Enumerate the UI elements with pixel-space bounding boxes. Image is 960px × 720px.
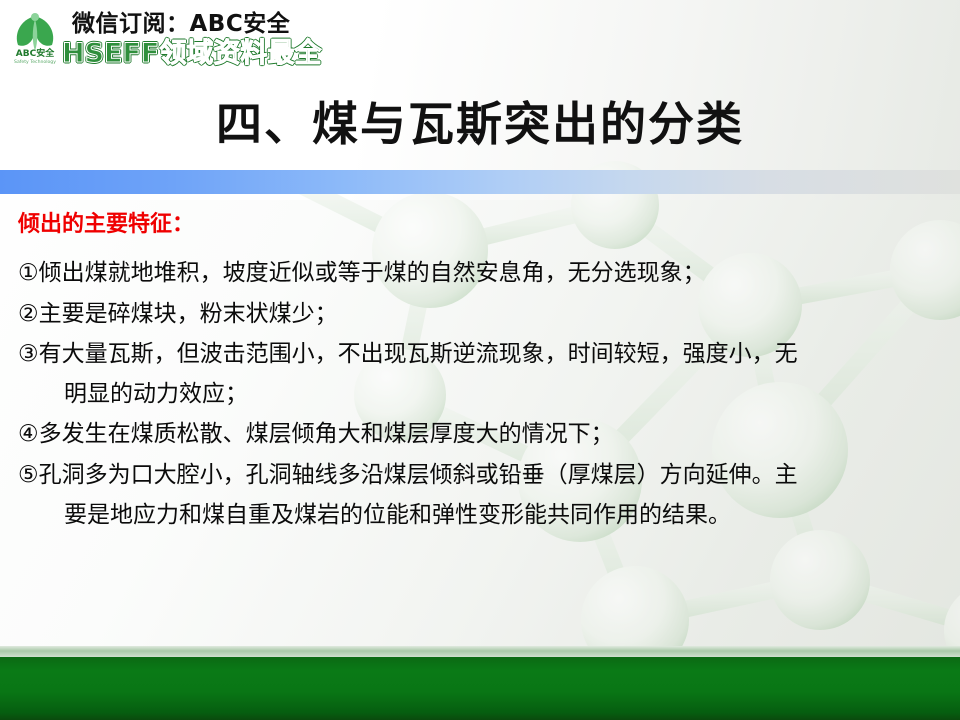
watermark-hseff-text: HSEFF领域资料最全: [62, 31, 321, 70]
watermark-header: ABC安全 Safety Technology 微信订阅：ABC安全 HSEFF…: [0, 0, 960, 72]
body-item-5-continuation: 要是地应力和煤自重及煤岩的位能和弹性变形能共同作用的结果。: [18, 500, 948, 531]
body-item-3-continuation: 明显的动力效应；: [18, 379, 948, 410]
slide-canvas: ABC安全 Safety Technology 微信订阅：ABC安全 HSEFF…: [0, 0, 960, 720]
slide-title: 四、煤与瓦斯突出的分类: [0, 88, 960, 154]
logo-main-text: ABC安全: [16, 47, 55, 59]
footer-green-band: [0, 657, 960, 720]
logo-sub-text: Safety Technology: [14, 59, 56, 65]
body-lead-heading: 倾出的主要特征：: [18, 212, 948, 238]
body-item-2: ②主要是碎煤块，粉末状煤少；: [18, 299, 948, 330]
abc-safety-leaf-logo-icon: ABC安全 Safety Technology: [4, 4, 66, 66]
footer-light-green-band: [0, 646, 960, 657]
body-item-1: ①倾出煤就地堆积，坡度近似或等于煤的自然安息角，无分选现象；: [18, 258, 948, 289]
slide-body: 倾出的主要特征： ①倾出煤就地堆积，坡度近似或等于煤的自然安息角，无分选现象； …: [18, 212, 948, 540]
body-item-4: ④多发生在煤质松散、煤层倾角大和煤层厚度大的情况下；: [18, 419, 948, 450]
body-item-5: ⑤孔洞多为口大腔小，孔洞轴线多沿煤层倾斜或铅垂（厚煤层）方向延伸。主: [18, 460, 948, 491]
body-item-3: ③有大量瓦斯，但波击范围小，不出现瓦斯逆流现象，时间较短，强度小，无: [18, 339, 948, 370]
title-divider-bar: [0, 170, 960, 194]
